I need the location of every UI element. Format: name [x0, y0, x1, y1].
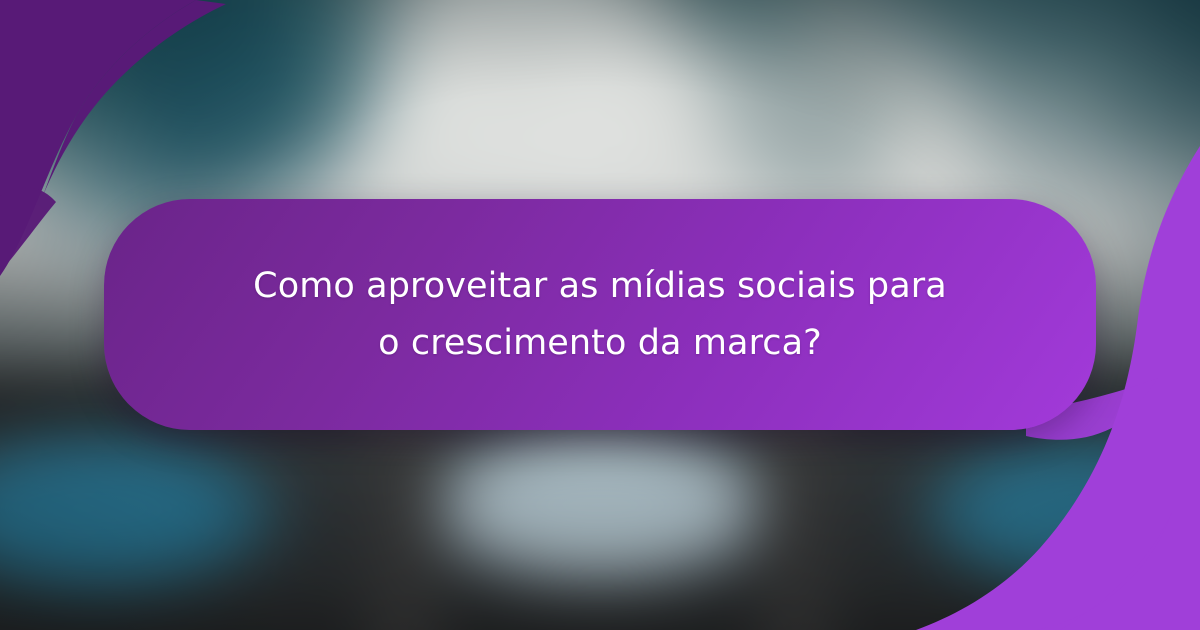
- question-card-title: Como aproveitar as mídias sociais para o…: [250, 258, 950, 371]
- share-card-canvas: Como aproveitar as mídias sociais para o…: [0, 0, 1200, 630]
- question-card[interactable]: Como aproveitar as mídias sociais para o…: [104, 199, 1096, 430]
